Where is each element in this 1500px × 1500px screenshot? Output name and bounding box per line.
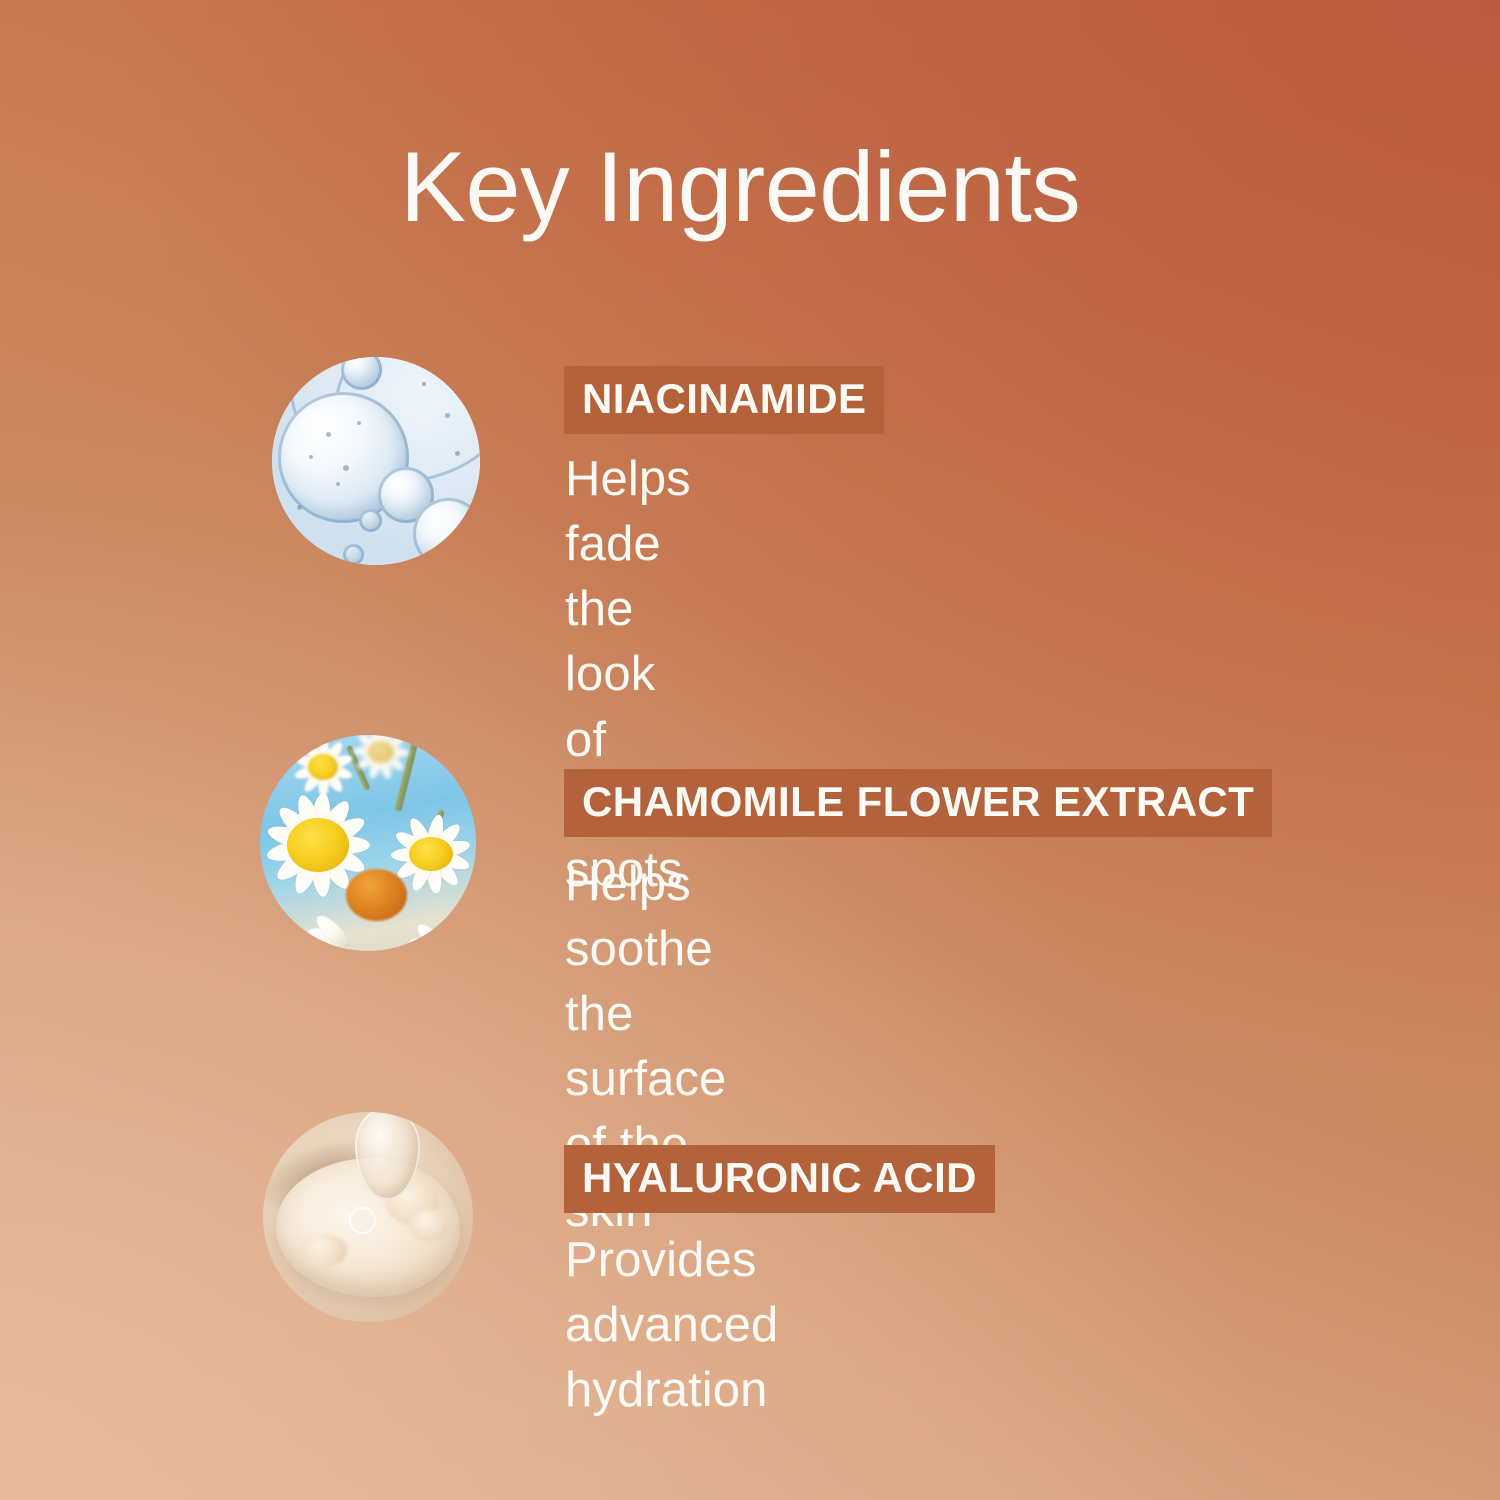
ingredient-name-badge: CHAMOMILE FLOWER EXTRACT <box>564 769 1272 837</box>
chamomile-flowers-photo <box>260 735 476 951</box>
page-title: Key Ingredients <box>400 137 1080 236</box>
ingredient-description: Provides advanced hydration <box>565 1228 778 1423</box>
ingredient-name-badge: NIACINAMIDE <box>564 366 884 434</box>
hyaluronic-acid-gel-photo <box>263 1112 473 1322</box>
ingredient-name-badge: HYALURONIC ACID <box>564 1145 995 1213</box>
niacinamide-bubbles-photo <box>272 357 480 565</box>
key-ingredients-infographic: Key Ingredients <box>0 0 1500 1500</box>
